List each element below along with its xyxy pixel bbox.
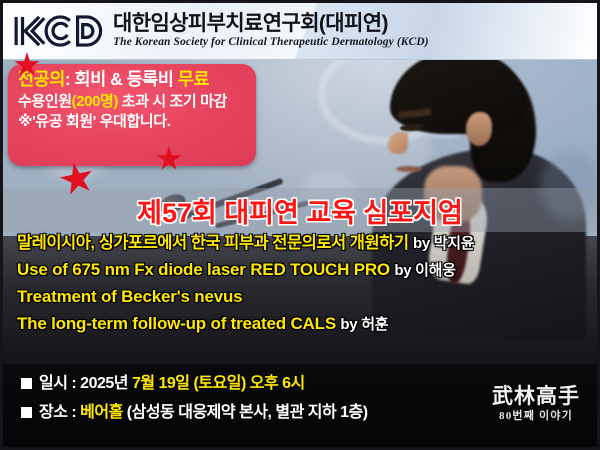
- poster-header: 대한임상피부치료연구회(대피연) The Korean Society for …: [3, 3, 597, 60]
- callout-line-2: 수용인원(200명) 초과 시 조기 마감: [18, 93, 248, 111]
- star-icon-callout-bottom: [156, 146, 182, 172]
- program-speaker: by 이해웅: [394, 262, 455, 279]
- square-bullet-icon: [21, 407, 32, 418]
- program-speaker: by 박지윤: [413, 235, 474, 252]
- photo-person-mouth: [396, 166, 422, 172]
- program-topic: Treatment of Becker's nevus: [17, 287, 242, 306]
- star-icon-top-left: [14, 52, 40, 78]
- watermark: 武林高手 80번째 이야기: [492, 386, 580, 422]
- place-value: 베어홀: [80, 404, 123, 421]
- callout-capacity-label: 수용인원: [18, 93, 72, 110]
- callout-capacity-count: (200명): [72, 93, 118, 110]
- watermark-title: 武林高手: [492, 386, 580, 407]
- program-item: 말레이시아, 싱가포르에서 한국 피부과 전문의로서 개원하기 by 박지윤: [17, 235, 597, 252]
- place-label: 장소 :: [39, 404, 80, 421]
- program-topic: 말레이시아, 싱가포르에서 한국 피부과 전문의로서 개원하기: [17, 234, 409, 252]
- watermark-subtitle: 80번째 이야기: [492, 411, 580, 422]
- star-icon-lower-left: [57, 159, 97, 199]
- program-list: 말레이시아, 싱가포르에서 한국 피부과 전문의로서 개원하기 by 박지윤 U…: [3, 232, 597, 356]
- page-title: 제57회 대피연 교육 심포지엄: [137, 191, 463, 230]
- date-label: 일시 :: [39, 375, 80, 392]
- symposium-poster: 대한임상피부치료연구회(대피연) The Korean Society for …: [0, 0, 600, 450]
- program-topic: The long-term follow-up of treated CALS: [17, 314, 336, 333]
- program-topic: Use of 675 nm Fx diode laser RED TOUCH P…: [17, 260, 390, 279]
- photo-person-nose: [388, 132, 408, 154]
- kcd-logo-icon: [11, 10, 107, 52]
- program-item: Use of 675 nm Fx diode laser RED TOUCH P…: [17, 261, 597, 279]
- date-value: 7월 19일 (토요일) 오후 6시: [132, 375, 305, 392]
- square-bullet-icon: [21, 378, 32, 389]
- society-name-en: The Korean Society for Clinical Therapeu…: [113, 37, 429, 49]
- callout-line-1: 전공의: 회비 & 등록비 무료: [18, 69, 248, 90]
- registration-notice-callout: 전공의: 회비 & 등록비 무료 수용인원(200명) 초과 시 조기 마감 ※…: [8, 64, 256, 166]
- date-year: 2025년: [80, 375, 132, 392]
- program-speaker: by 허훈: [340, 316, 388, 333]
- callout-free-label: 무료: [178, 69, 209, 89]
- callout-fee-text: : 회비 & 등록비: [65, 69, 178, 89]
- place-detail: (삼성동 대웅제약 본사, 별관 지하 1층): [123, 404, 368, 421]
- callout-line-3: ※'유공 회원' 우대합니다.: [18, 113, 248, 131]
- main-title-band: 제57회 대피연 교육 심포지엄: [3, 188, 597, 232]
- photo-person-ear: [466, 112, 492, 146]
- header-text-block: 대한임상피부치료연구회(대피연) The Korean Society for …: [113, 13, 429, 49]
- callout-capacity-note: 초과 시 조기 마감: [118, 93, 227, 110]
- society-name-ko: 대한임상피부치료연구회(대피연): [113, 13, 429, 34]
- program-item: Treatment of Becker's nevus: [17, 288, 597, 306]
- program-item: The long-term follow-up of treated CALS …: [17, 315, 597, 333]
